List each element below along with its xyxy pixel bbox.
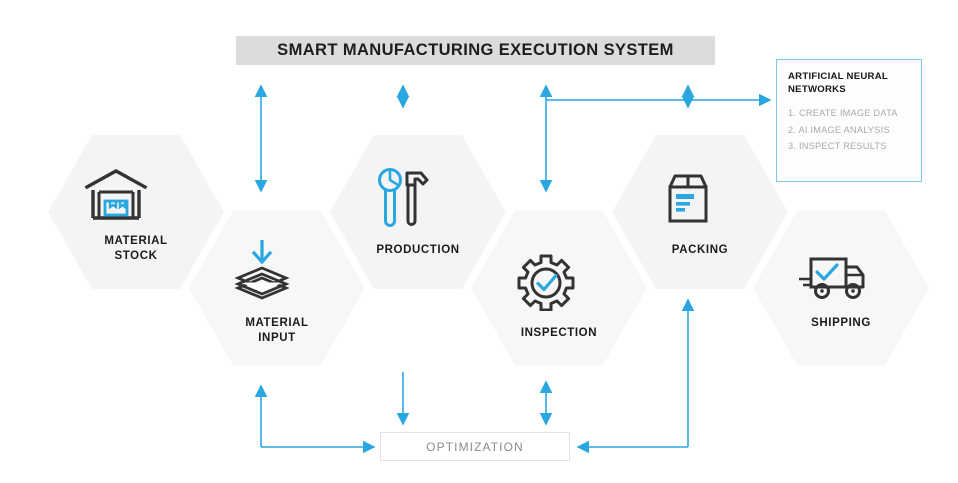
ann-panel[interactable]: ARTIFICIAL NEURAL NETWORKS 1. CREATE IMA… [776,59,922,182]
optimization-label: OPTIMIZATION [426,440,524,454]
optimization-box[interactable]: OPTIMIZATION [380,432,570,461]
ann-step-1: 1. CREATE IMAGE DATA [788,105,910,122]
diagram-canvas: SMART MANUFACTURING EXECUTION SYSTEM [0,0,958,483]
ann-step-list: 1. CREATE IMAGE DATA 2. AI IMAGE ANALYSI… [788,105,910,155]
ann-panel-title: ARTIFICIAL NEURAL NETWORKS [788,70,910,96]
ann-step-3: 3. INSPECT RESULTS [788,138,910,155]
ann-step-2: 2. AI IMAGE ANALYSIS [788,122,910,139]
